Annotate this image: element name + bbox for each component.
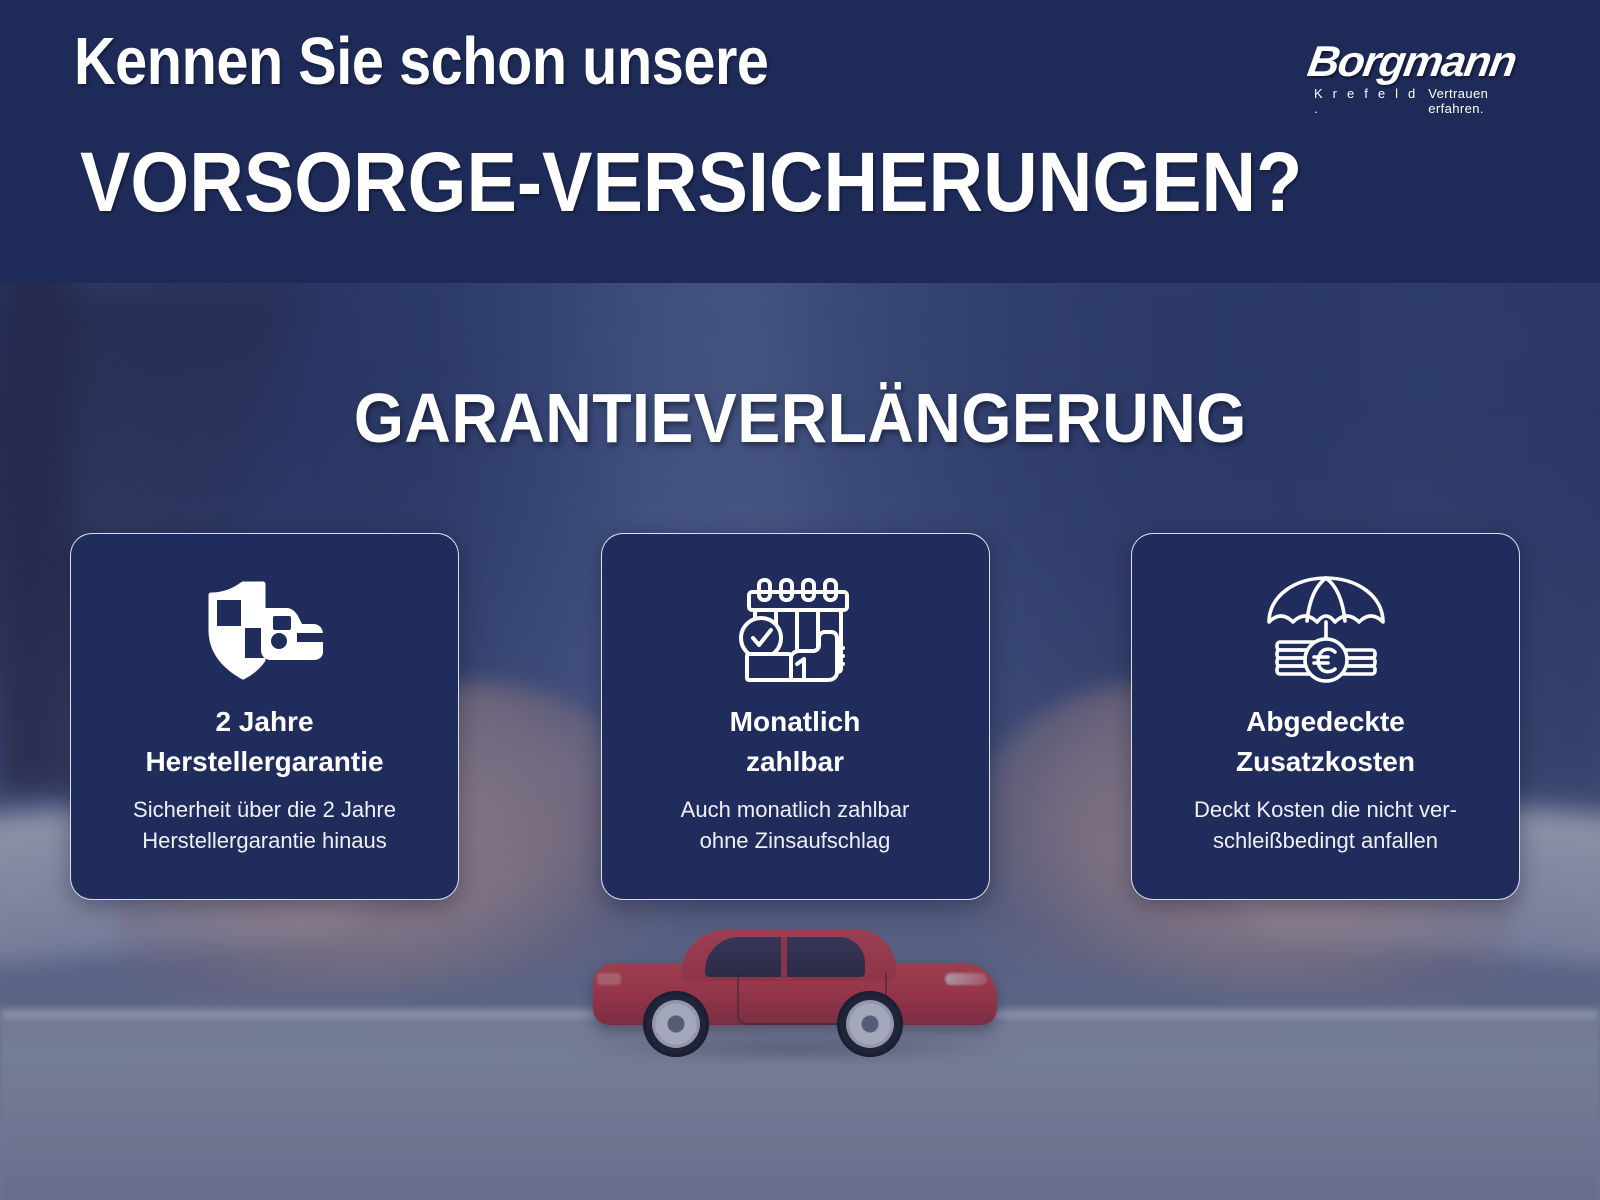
feature-card-description: Deckt Kosten die nicht ver- schleißbedin… <box>1194 794 1457 856</box>
feature-card-warranty[interactable]: 2 Jahre Herstellergarantie Sicherheit üb… <box>70 533 459 900</box>
brand-logo-tagline: K r e f e l d . Vertrauen erfahren. <box>1314 86 1544 116</box>
header-line-1: Kennen Sie schon unsere <box>74 28 769 95</box>
feature-card-title: Abgedeckte Zusatzkosten <box>1236 702 1415 782</box>
brand-logo-city: K r e f e l d . <box>1314 86 1428 116</box>
brand-logo[interactable]: Borgmann K r e f e l d . Vertrauen erfah… <box>1312 38 1544 110</box>
feature-card-row: 2 Jahre Herstellergarantie Sicherheit üb… <box>70 533 1520 900</box>
feature-card-description: Auch monatlich zahlbar ohne Zinsaufschla… <box>681 794 910 856</box>
umbrella-euro-coins-icon <box>1263 568 1389 696</box>
page-title: GARANTIEVERLÄNGERUNG <box>0 378 1600 458</box>
page-title-text: GARANTIEVERLÄNGERUNG <box>354 378 1247 458</box>
calendar-payment-icon <box>733 568 857 696</box>
brand-logo-wordmark: Borgmann <box>1304 38 1519 87</box>
promo-banner: Kennen Sie schon unsere VORSORGE-VERSICH… <box>0 0 1600 1200</box>
header-band: Kennen Sie schon unsere VORSORGE-VERSICH… <box>0 0 1600 283</box>
feature-card-extra-costs[interactable]: Abgedeckte Zusatzkosten Deckt Kosten die… <box>1131 533 1520 900</box>
feature-card-title: 2 Jahre Herstellergarantie <box>145 702 383 782</box>
brand-logo-claim: Vertrauen erfahren. <box>1428 86 1544 116</box>
feature-card-monthly-payment[interactable]: Monatlich zahlbar Auch monatlich zahlbar… <box>601 533 990 900</box>
shield-car-icon <box>201 568 329 696</box>
feature-card-description: Sicherheit über die 2 Jahre Herstellerga… <box>133 794 396 856</box>
header-line-2: VORSORGE-VERSICHERUNGEN? <box>80 140 1302 224</box>
feature-card-title: Monatlich zahlbar <box>730 702 861 782</box>
